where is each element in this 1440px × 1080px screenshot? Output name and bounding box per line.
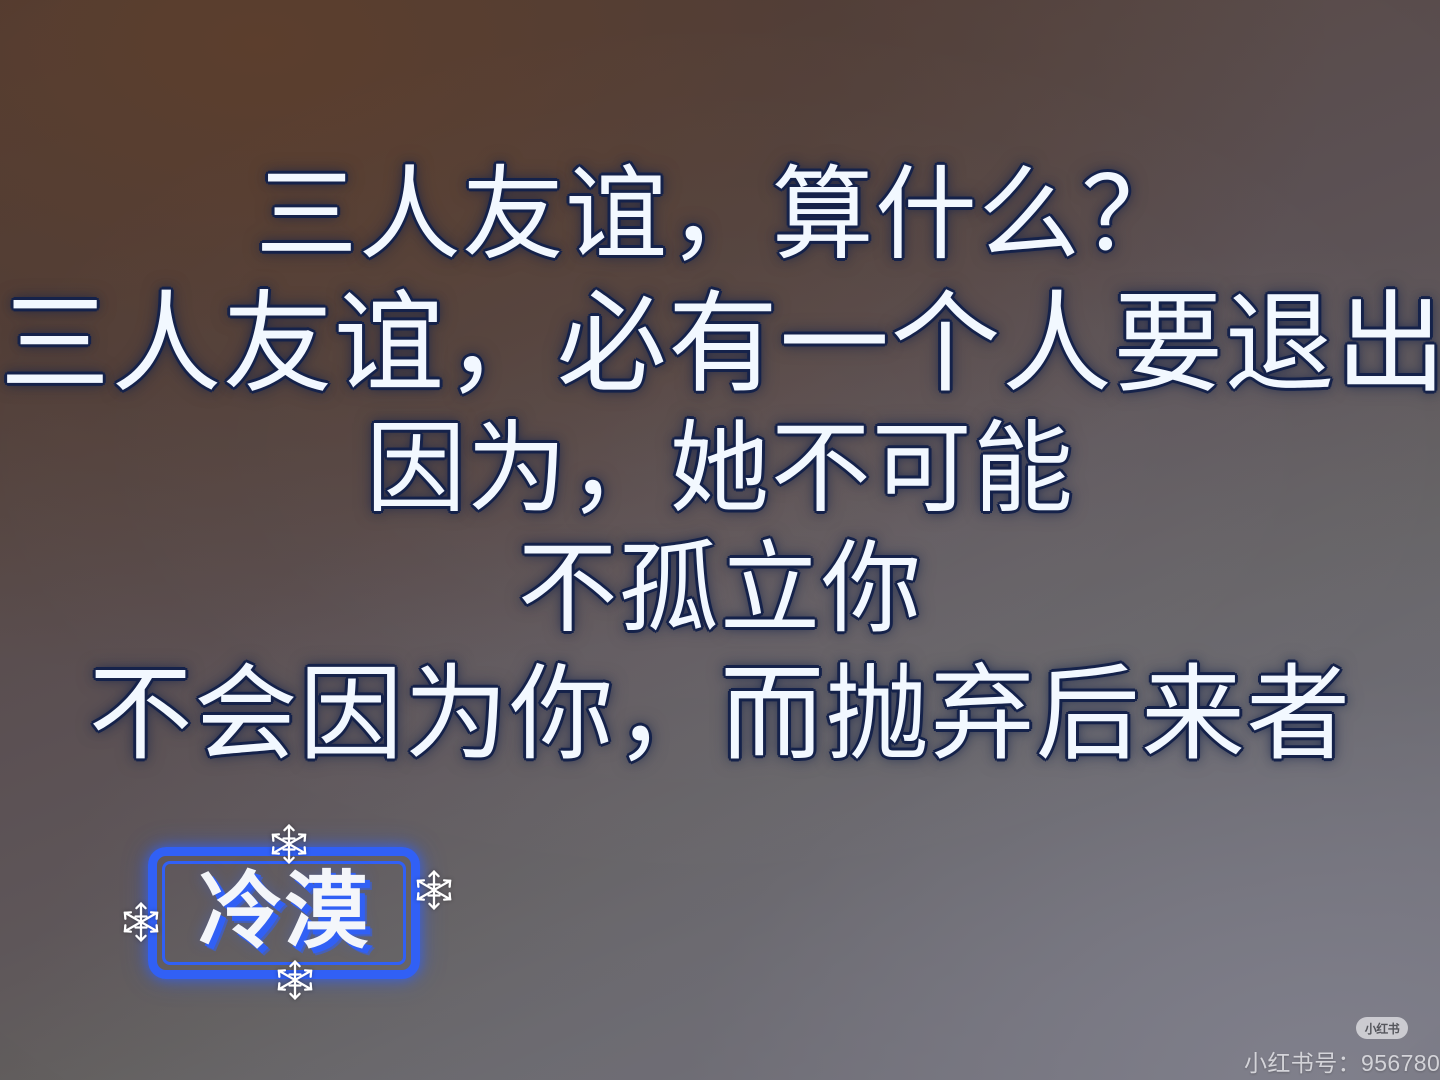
snowflake-icon-left (118, 899, 164, 945)
watermark-account-text: 小红书号：95678078016 (1244, 1044, 1440, 1078)
snowflake-icon-top (266, 821, 312, 867)
sticker-label: 冷漠 (157, 856, 411, 970)
quote-line-4: 不孤立你 (0, 525, 1440, 653)
quote-block: 三人友谊，算什么？ 三人友谊，必有一个人要退出， 因为，她不可能 不孤立你 不会… (0, 150, 1440, 782)
quote-line-5: 不会因为你，而抛弃后来者 (0, 649, 1440, 782)
snowflake-icon-right (411, 867, 457, 913)
quote-line-1: 三人友谊，算什么？ (0, 150, 1440, 281)
xiaohongshu-logo-badge: 小红书 (1356, 1017, 1408, 1039)
quote-line-3: 因为，她不可能 (0, 405, 1440, 533)
quote-line-2: 三人友谊，必有一个人要退出， (0, 275, 1440, 416)
quote-card-canvas: 三人友谊，算什么？ 三人友谊，必有一个人要退出， 因为，她不可能 不孤立你 不会… (0, 0, 1440, 1080)
mood-sticker: 冷漠 (126, 833, 456, 1013)
snowflake-icon-bottom (272, 957, 318, 1003)
